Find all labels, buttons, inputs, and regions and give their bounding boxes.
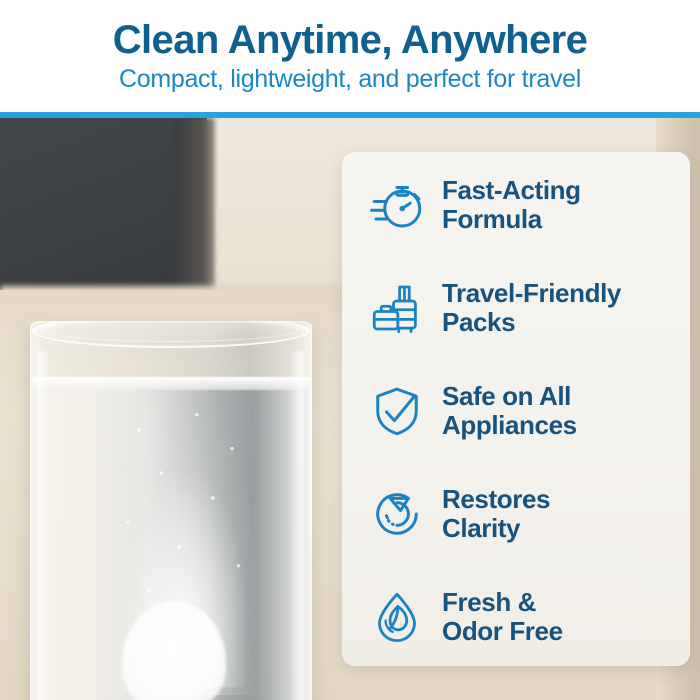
feature-item-safe-appliances: Safe on All Appliances xyxy=(368,382,674,440)
feature-label: Restores Clarity xyxy=(442,485,550,543)
shield-check-icon xyxy=(368,382,426,440)
feature-label: Fresh & Odor Free xyxy=(442,588,563,646)
glass-container xyxy=(14,236,334,700)
glass-highlight-left xyxy=(37,351,50,700)
drinking-glass xyxy=(30,321,312,700)
stopwatch-icon xyxy=(368,176,426,234)
feature-label: Travel-Friendly Packs xyxy=(442,279,621,337)
product-infographic: Clean Anytime, Anywhere Compact, lightwe… xyxy=(0,0,700,700)
subheadline: Compact, lightweight, and perfect for tr… xyxy=(119,66,581,94)
feature-list-panel: Fast-Acting Formula xyxy=(342,152,690,666)
feature-item-restores-clarity: Restores Clarity xyxy=(368,485,674,543)
header-banner: Clean Anytime, Anywhere Compact, lightwe… xyxy=(0,0,700,112)
glass-rim-inner xyxy=(44,321,298,342)
restore-arrow-icon xyxy=(368,485,426,543)
glass-rim xyxy=(32,321,310,348)
feature-item-fast-acting: Fast-Acting Formula xyxy=(368,176,674,234)
droplet-leaf-icon xyxy=(368,588,426,646)
headline: Clean Anytime, Anywhere xyxy=(113,19,587,61)
feature-item-fresh-odor-free: Fresh & Odor Free xyxy=(368,588,674,646)
luggage-icon xyxy=(368,279,426,337)
water-surface-line xyxy=(32,377,310,390)
glass-highlight-right xyxy=(288,351,304,700)
feature-label: Fast-Acting Formula xyxy=(442,176,581,234)
feature-item-travel-friendly: Travel-Friendly Packs xyxy=(368,279,674,337)
feature-label: Safe on All Appliances xyxy=(442,382,577,440)
